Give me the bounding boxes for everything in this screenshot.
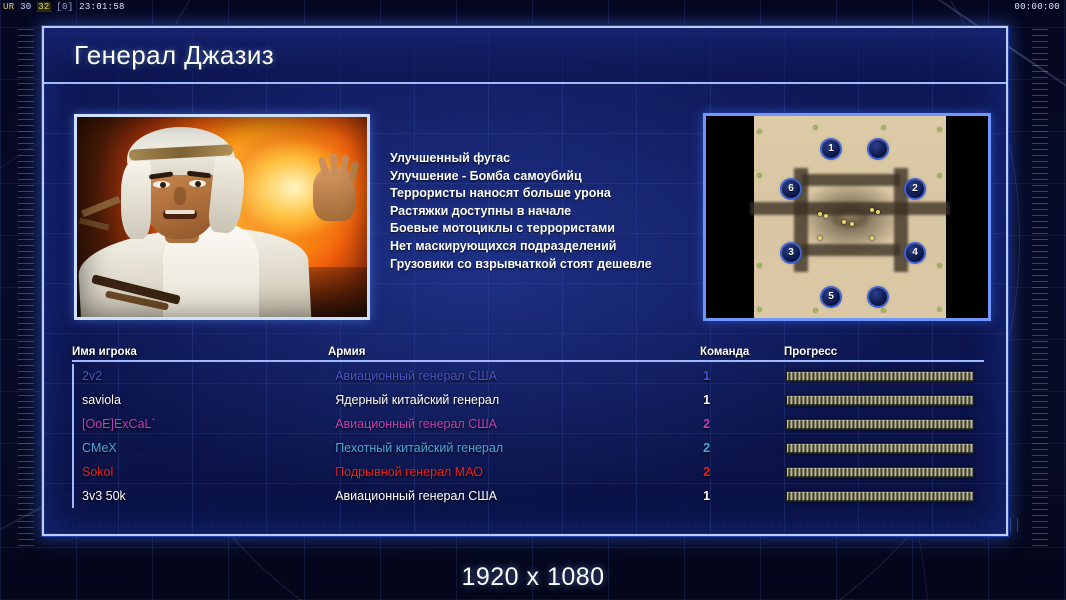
- player-table: Имя игрока Армия Команда Прогресс 2v2Ави…: [72, 340, 984, 508]
- minimap-start-position[interactable]: 3: [782, 244, 800, 262]
- player-name: 2v2: [82, 369, 335, 383]
- player-team: 2: [703, 441, 786, 455]
- table-row: [OoE]ExCaL`Авиационный генерал США2: [74, 412, 984, 436]
- fps-value: 30: [20, 2, 31, 12]
- minimap-start-position[interactable]: 6: [782, 180, 800, 198]
- minimap-start-position[interactable]: 4: [906, 244, 924, 262]
- player-name: 3v3 50k: [82, 489, 335, 503]
- minimap: 162345: [703, 113, 991, 321]
- description-line: Грузовики со взрывчаткой стоят дешевле: [390, 256, 710, 274]
- system-clock: 23:01:58: [79, 2, 125, 12]
- player-army: Авиационный генерал США: [335, 369, 703, 383]
- column-header-army: Армия: [328, 346, 700, 358]
- main-panel: Генерал Джазиз: [42, 26, 1008, 536]
- description-line: Растяжки доступны в начале: [390, 203, 710, 221]
- player-progress-cell: [786, 395, 984, 406]
- description-line: Улучшенный фугас: [390, 150, 710, 168]
- fps-label: UR: [3, 2, 14, 12]
- minimap-start-position[interactable]: 5: [822, 288, 840, 306]
- resolution-label: 1920 x 1080: [0, 563, 1066, 592]
- minimap-start-position[interactable]: 1: [822, 140, 840, 158]
- player-name: saviola: [82, 393, 335, 407]
- player-progress-cell: [786, 419, 984, 430]
- table-header-row: Имя игрока Армия Команда Прогресс: [72, 340, 984, 362]
- table-row: 2v2Авиационный генерал США1: [74, 364, 984, 388]
- minimap-start-position[interactable]: 2: [906, 180, 924, 198]
- description-line: Улучшение - Бомба самоубийц: [390, 168, 710, 186]
- progress-bar: [786, 419, 974, 430]
- general-portrait: [74, 114, 370, 320]
- player-team: 1: [703, 369, 786, 383]
- table-row: 3v3 50kАвиационный генерал США1: [74, 484, 984, 508]
- general-description: Улучшенный фугасУлучшение - Бомба самоуб…: [390, 150, 710, 273]
- ruler-right: [1032, 26, 1048, 546]
- player-progress-cell: [786, 467, 984, 478]
- description-line: Нет маскирующихся подразделений: [390, 238, 710, 256]
- ruler-left: [18, 26, 34, 546]
- page-title: Генерал Джазиз: [74, 40, 274, 71]
- player-army: Авиационный генерал США: [335, 489, 703, 503]
- player-name: Sokol: [82, 465, 335, 479]
- player-name: [OoE]ExCaL`: [82, 417, 335, 431]
- minimap-terrain: 162345: [754, 116, 946, 318]
- progress-bar: [786, 443, 974, 454]
- top-row: Улучшенный фугасУлучшение - Бомба самоуб…: [74, 114, 984, 326]
- progress-bar: [786, 467, 974, 478]
- player-progress-cell: [786, 491, 984, 502]
- column-header-team: Команда: [700, 346, 784, 358]
- description-line: Террористы наносят больше урона: [390, 185, 710, 203]
- loading-screen: UR 30 32 [0] 23:01:58 00:00:00 Генерал Д…: [0, 0, 1066, 600]
- player-army: Ядерный китайский генерал: [335, 393, 703, 407]
- progress-bar: [786, 371, 974, 382]
- player-army: Подрывной генерал МАО: [335, 465, 703, 479]
- player-army: Авиационный генерал США: [335, 417, 703, 431]
- player-team: 1: [703, 489, 786, 503]
- player-name: CMeX: [82, 441, 335, 455]
- progress-bar: [786, 395, 974, 406]
- player-progress-cell: [786, 371, 984, 382]
- column-header-progress: Прогресс: [784, 346, 984, 358]
- player-army: Пехотный китайский генерал: [335, 441, 703, 455]
- match-timer: 00:00:00: [1014, 2, 1060, 12]
- player-team: 1: [703, 393, 786, 407]
- table-row: SokolПодрывной генерал МАО2: [74, 460, 984, 484]
- progress-bar: [786, 491, 974, 502]
- title-bar: Генерал Джазиз: [44, 28, 1006, 84]
- description-line: Боевые мотоциклы с террористами: [390, 220, 710, 238]
- table-body: 2v2Авиационный генерал США1saviolaЯдерны…: [72, 364, 984, 508]
- player-team: 2: [703, 417, 786, 431]
- player-team: 2: [703, 465, 786, 479]
- panel-content: Улучшенный фугасУлучшение - Бомба самоуб…: [44, 86, 1006, 538]
- fps-secondary-value: 32: [37, 2, 50, 12]
- fps-index: [0]: [56, 2, 73, 12]
- fps-overlay: UR 30 32 [0] 23:01:58: [3, 2, 125, 12]
- minimap-start-position[interactable]: [869, 288, 887, 306]
- table-row: saviolaЯдерный китайский генерал1: [74, 388, 984, 412]
- minimap-start-position[interactable]: [869, 140, 887, 158]
- player-progress-cell: [786, 443, 984, 454]
- column-header-name: Имя игрока: [72, 346, 328, 358]
- table-row: CMeXПехотный китайский генерал2: [74, 436, 984, 460]
